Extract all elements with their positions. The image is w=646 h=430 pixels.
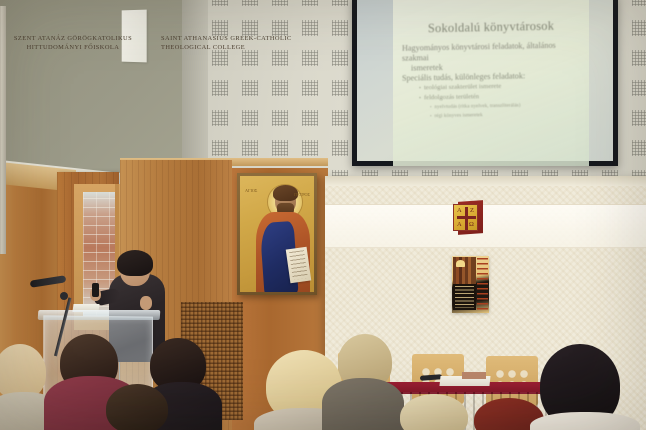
crest-letter-omega: Ω: [469, 222, 474, 229]
banner-name-english: SAINT ATHANASIUS GREEK-CATHOLIC THEOLOGI…: [161, 34, 307, 52]
speaker-hand: [140, 296, 152, 310]
projection-screen: Sokoldalú könyvtárosok Hagyományos könyv…: [352, 0, 618, 166]
speaker-hair: [117, 250, 153, 276]
presentation-remote-icon: [92, 283, 99, 297]
icon-inscription-left: ΑΓΙΟΣ: [245, 188, 257, 193]
banner-name-en-line2: THEOLOGICAL COLLEGE: [161, 43, 307, 52]
poster-text-column: [477, 258, 488, 310]
crest-face: Α Ζ Α Ω: [453, 204, 478, 231]
cross-icon-bar: [457, 216, 476, 219]
banner-name-hungarian: SZENT ATANÁZ GÖRÖGKATOLIKUS HITTUDOMÁNYI…: [12, 34, 134, 52]
conference-photo-scene: Sokoldalú könyvtárosok Hagyományos könyv…: [0, 0, 646, 430]
scroll-icon: [286, 247, 312, 284]
banner-name-hu-line1: SZENT ATANÁZ GÖRÖGKATOLIKUS: [12, 34, 134, 43]
banner-name-en-line1: SAINT ATHANASIUS GREEK-CATHOLIC: [161, 34, 307, 43]
scroll-text-lines: [289, 250, 308, 280]
crest-letter-alpha2: Α: [457, 222, 462, 229]
audience-shoulders: [530, 412, 640, 430]
poster-text-lines: [455, 286, 474, 308]
projection-screen-surface: Sokoldalú könyvtárosok Hagyományos könyv…: [357, 0, 613, 161]
audience-head: [106, 384, 168, 430]
crest-letter-alpha: Α: [457, 208, 462, 215]
wall-icon-frame: ΑΓΙΟΣ ΠΕΤΡΟΣ: [237, 173, 317, 295]
banner-library-poster: [452, 256, 489, 313]
lectern-top-surface: [38, 310, 161, 320]
slide-bullet-list: Hagyományos könyvtárosi feladatok, által…: [402, 40, 582, 121]
byzantine-saint-icon: ΑΓΙΟΣ ΠΕΤΡΟΣ: [240, 176, 314, 292]
microphone-joint: [60, 292, 68, 300]
projected-slide: Sokoldalú könyvtárosok Hagyományos könyv…: [393, 0, 589, 166]
table-documents: [462, 372, 486, 379]
banner-support-rail: [0, 6, 6, 254]
icon-inscription-right: ΠΕΤΡΟΣ: [294, 192, 310, 197]
poster-dark-block: [453, 284, 476, 310]
crest-letter-zeta: Ζ: [470, 208, 474, 215]
banner-title-band: [325, 204, 646, 248]
slide-title: Sokoldalú könyvtárosok: [393, 18, 589, 37]
poster-lamp-icon: [456, 260, 465, 267]
college-crest-icon: Α Ζ Α Ω: [451, 200, 485, 236]
audience-shoulders: [322, 378, 404, 430]
banner-name-hu-line2: HITTUDOMÁNYI FŐISKOLA: [12, 43, 134, 52]
olive-side-wall: [0, 0, 182, 178]
banner-top-edge: [325, 176, 646, 186]
